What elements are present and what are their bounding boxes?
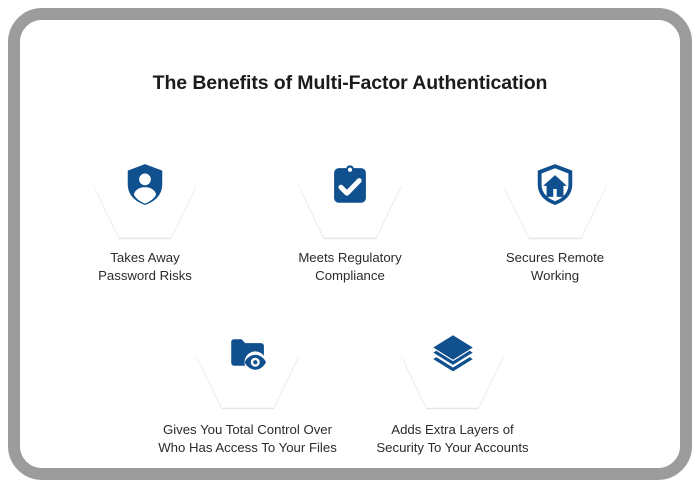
benefit-item-password-risks: Takes Away Password Risks	[43, 128, 248, 285]
benefit-caption: Meets Regulatory Compliance	[298, 249, 401, 285]
benefit-item-regulatory-compliance: Meets Regulatory Compliance	[248, 128, 453, 285]
benefit-caption: Secures Remote Working	[506, 249, 604, 285]
benefit-caption: Takes Away Password Risks	[98, 249, 192, 285]
benefit-row-bottom: Gives You Total Control Over Who Has Acc…	[20, 298, 680, 457]
shield-person-icon	[122, 161, 168, 207]
hexagon-badge	[401, 298, 505, 410]
hexagon-badge	[196, 298, 300, 410]
benefit-item-file-access-control: Gives You Total Control Over Who Has Acc…	[145, 298, 350, 457]
layers-stack-icon	[430, 331, 476, 377]
shield-home-icon	[532, 161, 578, 207]
hexagon-badge	[503, 128, 607, 240]
folder-eye-icon	[225, 331, 271, 377]
hexagon-badge	[93, 128, 197, 240]
benefit-row-top: Takes Away Password Risks Meets Regul	[20, 128, 680, 285]
card-surface: The Benefits of Multi-Factor Authenticat…	[20, 20, 680, 468]
benefit-item-remote-working: Secures Remote Working	[453, 128, 658, 285]
benefit-caption: Adds Extra Layers of Security To Your Ac…	[376, 421, 528, 457]
hexagon-badge	[298, 128, 402, 240]
benefit-item-extra-security-layers: Adds Extra Layers of Security To Your Ac…	[350, 298, 555, 457]
page-title: The Benefits of Multi-Factor Authenticat…	[20, 72, 680, 95]
infographic-frame: The Benefits of Multi-Factor Authenticat…	[8, 8, 692, 480]
benefit-caption: Gives You Total Control Over Who Has Acc…	[158, 421, 337, 457]
clipboard-check-icon	[327, 161, 373, 207]
